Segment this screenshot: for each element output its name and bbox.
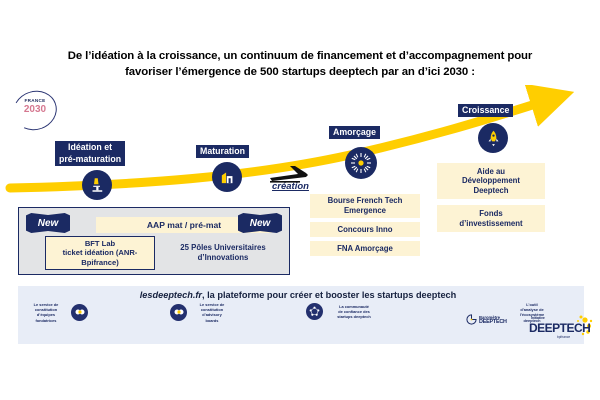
banner-tagline: lesdeeptech.fr, la plateforme pour créer… <box>78 290 518 300</box>
advisory-link-icon <box>170 304 187 321</box>
banner-service-advisory[interactable]: Le service de constitution d’advisory bo… <box>170 302 234 323</box>
poles-line-2: d’Innovations <box>180 253 265 263</box>
deeptech-logo: Initiative DEEPTECH bpifrance <box>527 316 589 342</box>
stage-label-maturation: Maturation <box>196 145 249 158</box>
stage-icon-ideation[interactable] <box>82 170 112 200</box>
amorcage-item-fna[interactable]: FNA Amorçage <box>310 241 420 256</box>
banner-service-teams[interactable]: Le service de constitution d’équipes fon… <box>24 302 88 323</box>
sunburst-icon <box>349 151 373 175</box>
deeptech-logo-main: DEEPTECH <box>529 321 590 335</box>
croissance-item-aide-line-1: Aide au <box>462 167 520 177</box>
new-badge-right: New <box>238 213 282 233</box>
croissance-item-aide-line-3: Deeptech <box>462 186 520 196</box>
stage-icon-maturation[interactable] <box>212 162 242 192</box>
team-link-icon <box>71 304 88 321</box>
stage-icon-croissance[interactable] <box>478 123 508 153</box>
slide-canvas: De l’idéation à la croissance, un contin… <box>0 0 600 400</box>
deeptech-logo-tiny: bpifrance <box>557 335 570 339</box>
banner-tagline-text: , la plateforme pour créer et booster le… <box>202 290 456 300</box>
bft-lab-line-2: ticket idéation (ANR- <box>63 248 138 258</box>
page-title: De l’idéation à la croissance, un contin… <box>10 48 590 80</box>
stage-icon-amorcage[interactable] <box>345 147 377 179</box>
banner-service-community[interactable]: La communauté de confiance des startups … <box>306 303 382 320</box>
croissance-item-fonds-line-1: Fonds <box>459 209 522 219</box>
stage-label-croissance: Croissance <box>458 104 513 117</box>
deeptech-logo-sub: Initiative <box>531 316 545 320</box>
banner-service-community-text: La communauté de confiance des startups … <box>326 304 382 320</box>
stage-label-ideation-line-2: pré-maturation <box>59 154 121 166</box>
stage-label-ideation: Idéation et pré-maturation <box>55 141 125 166</box>
rocket-icon <box>485 130 502 147</box>
croissance-item-aide-line-2: Développement <box>462 176 520 186</box>
bft-lab-item[interactable]: BFT Lab ticket idéation (ANR- Bpifrance) <box>45 236 155 270</box>
bft-lab-line-1: BFT Lab <box>63 239 138 249</box>
amorcage-item-bourse[interactable]: Bourse French Tech Emergence <box>310 194 420 218</box>
poles-universitaires-item[interactable]: 25 Pôles Universitaires d’Innovations <box>164 236 282 270</box>
community-icon <box>306 303 323 320</box>
amorcage-item-bourse-line-2: Emergence <box>328 206 403 216</box>
bft-lab-line-3: Bpifrance) <box>63 258 138 268</box>
amorcage-item-bourse-line-1: Bourse French Tech <box>328 196 403 206</box>
page-title-line-1: De l’idéation à la croissance, un contin… <box>10 48 590 64</box>
croissance-item-fonds[interactable]: Fonds d’investissement <box>437 205 545 232</box>
poles-line-1: 25 Pôles Universitaires <box>180 243 265 253</box>
barometre-deeptech-logo: Baromètre DEEPTECH <box>466 314 507 325</box>
amorcage-item-concours[interactable]: Concours Inno <box>310 222 420 237</box>
barometre-deeptech-text: Baromètre DEEPTECH <box>479 315 507 325</box>
new-badge-left: New <box>26 213 70 233</box>
croissance-item-fonds-line-2: d’investissement <box>459 219 522 229</box>
banner-domain[interactable]: lesdeeptech.fr <box>140 290 202 300</box>
building-icon <box>219 169 236 186</box>
banner-service-advisory-text: Le service de constitution d’advisory bo… <box>190 302 234 323</box>
microscope-icon <box>88 176 106 194</box>
creation-label: création <box>272 181 309 192</box>
croissance-item-aide[interactable]: Aide au Développement Deeptech <box>437 163 545 199</box>
barometer-icon <box>466 314 477 325</box>
banner-service-teams-text: Le service de constitution d’équipes fon… <box>24 302 68 323</box>
stage-label-amorcage: Amorçage <box>329 126 380 139</box>
page-title-line-2: favoriser l’émergence de 500 startups de… <box>10 64 590 80</box>
stage-label-ideation-line-1: Idéation et <box>59 142 121 154</box>
